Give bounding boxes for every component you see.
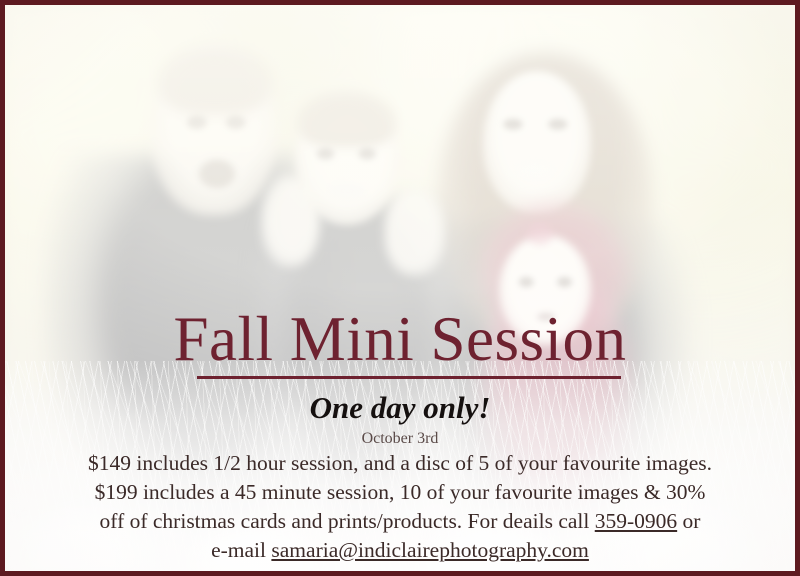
text-overlay: Fall Mini Session One day only! October … [5, 5, 795, 571]
offer-line-3: off of christmas cards and prints/produc… [13, 507, 787, 536]
offer-line-3-prefix: off of christmas cards and prints/produc… [100, 509, 595, 533]
offer-line-4: e-mail samaria@indiclairephotography.com [13, 536, 787, 565]
subheadline: One day only! [5, 391, 795, 425]
headline-title: Fall Mini Session [5, 308, 795, 371]
offer-line-3-suffix: or [677, 509, 700, 533]
email-label: e-mail [211, 538, 271, 562]
offer-line-1: $149 includes 1/2 hour session, and a di… [13, 449, 787, 478]
event-date: October 3rd [5, 430, 795, 448]
email-address[interactable]: samaria@indiclairephotography.com [271, 538, 589, 562]
offer-line-2: $199 includes a 45 minute session, 10 of… [13, 478, 787, 507]
flyer-card: Fall Mini Session One day only! October … [0, 0, 800, 576]
phone-number[interactable]: 359-0906 [595, 509, 677, 533]
offer-details: $149 includes 1/2 hour session, and a di… [13, 449, 787, 565]
headline-underline-rule [197, 376, 621, 379]
